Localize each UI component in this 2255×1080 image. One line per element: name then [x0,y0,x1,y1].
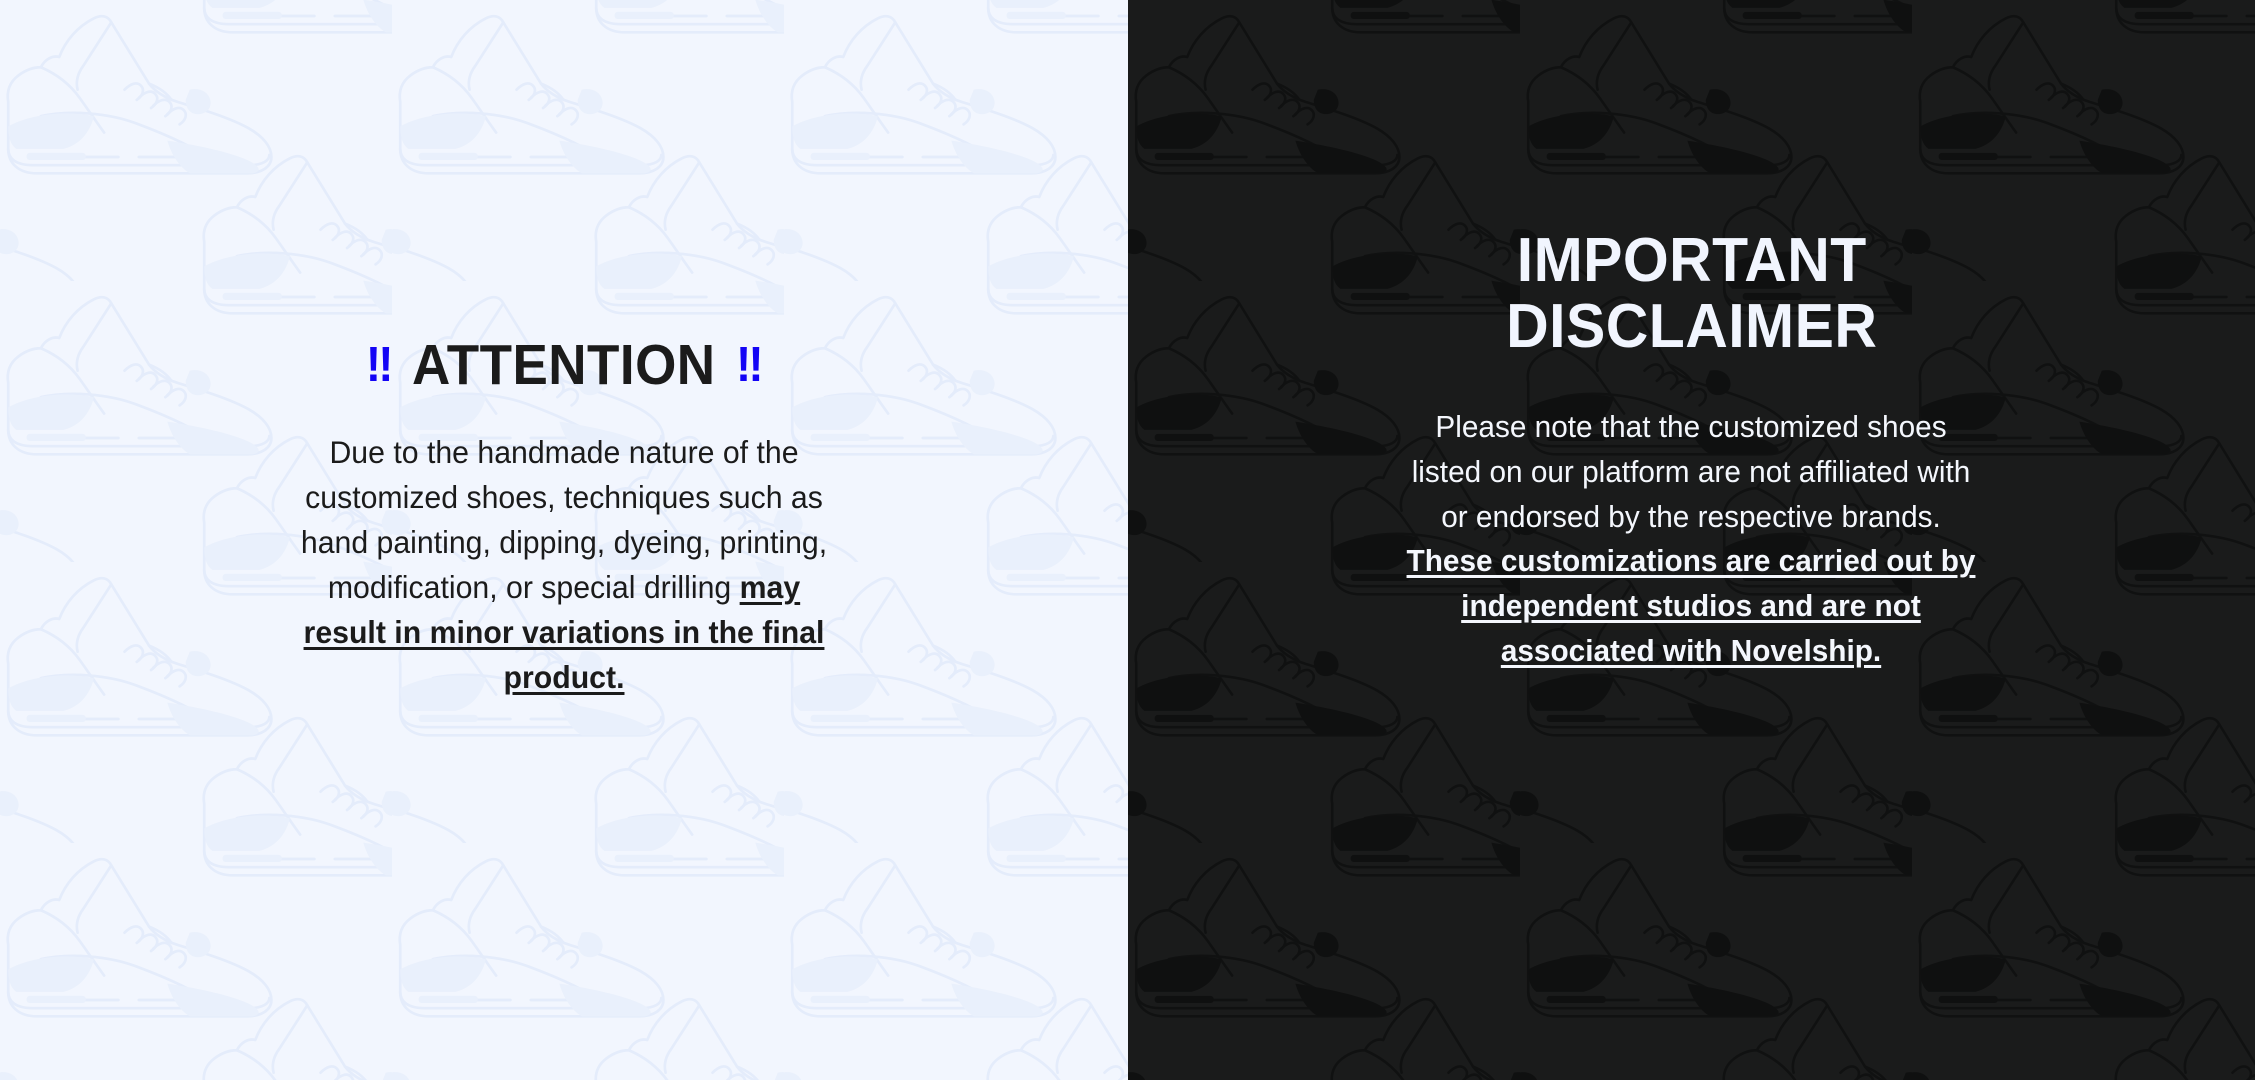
disclaimer-heading-line2: DISCLAIMER [1506,292,1877,361]
attention-heading: ‼ATTENTION‼ [207,336,921,396]
disclaimer-body-emphasis: These customizations are carried out by … [1407,543,1976,668]
disclaimer-heading-line1: IMPORTANT [1516,226,1866,295]
double-exclamation-icon-right: ‼ [736,340,762,391]
disclaimer-panel: IMPORTANT DISCLAIMER Please note that th… [1128,0,2255,1080]
disclaimer-heading: IMPORTANT DISCLAIMER [1317,228,2065,361]
disclaimer-body-plain: Please note that the customized shoes li… [1412,409,1971,534]
disclaimer-body-text: Please note that the customized shoes li… [1403,405,1979,675]
disclaimer-content: IMPORTANT DISCLAIMER Please note that th… [1128,0,2255,674]
attention-body-text: Due to the handmade nature of the custom… [285,430,842,700]
attention-content: ‼ATTENTION‼ Due to the handmade nature o… [0,0,1128,700]
double-exclamation-icon-left: ‼ [366,340,392,391]
attention-panel: ‼ATTENTION‼ Due to the handmade nature o… [0,0,1128,1080]
dual-panel-banner: ‼ATTENTION‼ Due to the handmade nature o… [0,0,2255,1080]
attention-heading-text: ATTENTION [412,333,716,397]
